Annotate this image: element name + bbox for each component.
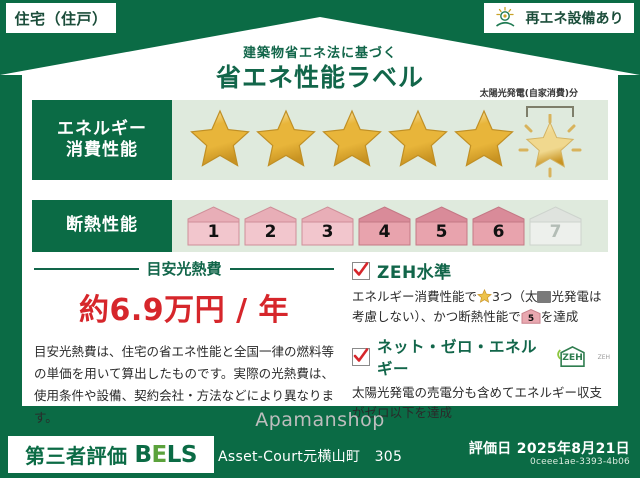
energy-label-line2: 消費性能 (57, 140, 147, 161)
redaction-mark (537, 291, 551, 303)
evaluation-date-value: 2025年8月21日 (517, 441, 630, 457)
claim-text-pre: エネルギー消費性能で (352, 289, 477, 304)
footer-bar: 第三者評価 BELS Asset-Court元横山町 305 評価日 2025年… (0, 430, 640, 478)
star-icon-filled-3 (320, 108, 384, 172)
energy-performance-row: エネルギー 消費性能 太陽光発電(自家消費)分 (32, 100, 608, 180)
bels-letter-e: E (152, 442, 167, 468)
renewable-equipment-badge: 再エネ設備あり (484, 3, 634, 33)
claim-zeh-standard: ZEH水準 エネルギー消費性能で3つ（太光発電は考慮しない）、かつ断熱性能で 5… (352, 258, 610, 327)
claim-net-zero-title: ネット・ゼロ・エネルギー (377, 335, 545, 379)
claim-zeh-standard-title: ZEH水準 (377, 258, 452, 283)
insulation-badge-number: 5 (528, 314, 534, 324)
insulation-performance-label: 断熱性能 (32, 200, 172, 252)
insulation-badge-icon: 5 (521, 309, 541, 324)
claim-zeh-standard-body: エネルギー消費性能で3つ（太光発電は考慮しない）、かつ断熱性能で 5 を達成 (352, 287, 610, 327)
star-icon (477, 289, 492, 303)
checkbox-checked-icon (352, 262, 370, 280)
zeh-logo-icon: ZEH (555, 343, 590, 371)
svg-text:ZEH: ZEH (563, 352, 584, 363)
energy-label-line1: エネルギー (57, 119, 147, 140)
insulation-level-5: 5 (414, 205, 469, 247)
watermark: Apamanshop (0, 409, 640, 431)
claim-text-end: を達成 (541, 309, 579, 324)
bels-logo-text: BELS (135, 442, 197, 468)
bels-third-party-badge: 第三者評価 BELS (8, 436, 214, 473)
energy-performance-label: エネルギー 消費性能 (32, 100, 172, 180)
evaluation-id: 0ceee1ae-3393-4b06 (530, 457, 630, 467)
insulation-level-number: 1 (186, 222, 241, 242)
dwelling-type-badge: 住宅（住戸） (6, 3, 116, 33)
star-icon-filled-5 (452, 108, 516, 172)
property-address: Asset-Court元横山町 305 (218, 446, 402, 466)
heading-rule-left (34, 268, 139, 270)
star-rating: 太陽光発電(自家消費)分 (172, 108, 582, 172)
star-icon-filled-2 (254, 108, 318, 172)
insulation-level-6: 6 (471, 205, 526, 247)
star-solar-6: 太陽光発電(自家消費)分 (518, 108, 582, 172)
insulation-level-2: 2 (243, 205, 298, 247)
insulation-level-number: 6 (471, 222, 526, 242)
zeh-claims-block: ZEH水準 エネルギー消費性能で3つ（太光発電は考慮しない）、かつ断熱性能で 5… (352, 258, 610, 431)
insulation-level-1: 1 (186, 205, 241, 247)
insulation-level-number: 2 (243, 222, 298, 242)
claim-text-mid: 3つ（太 (492, 289, 537, 304)
solar-annotation: 太陽光発電(自家消費)分 (480, 86, 578, 99)
renewable-equipment-label: 再エネ設備あり (526, 8, 624, 28)
insulation-level-number: 5 (414, 222, 469, 242)
heading-rule-right (230, 268, 335, 270)
zeh-logo-subtext: ZEH (598, 354, 610, 361)
bels-letter-ls: LS (167, 442, 197, 468)
utility-cost-heading: 目安光熱費 (34, 258, 334, 279)
utility-cost-block: 目安光熱費 約6.9万円 / 年 目安光熱費は、住宅の省エネ性能と全国一律の燃料… (34, 258, 334, 429)
insulation-level-number: 3 (300, 222, 355, 242)
insulation-level-number: 4 (357, 222, 412, 242)
insulation-level-scale: 1234567 (172, 205, 583, 247)
insulation-level-7: 7 (528, 205, 583, 247)
checkbox-checked-icon (352, 348, 370, 366)
insulation-level-number: 7 (528, 222, 583, 242)
insulation-performance-row: 断熱性能 1234567 (32, 200, 608, 252)
insulation-level-4: 4 (357, 205, 412, 247)
star-icon-outline (524, 120, 576, 172)
bels-jp-label: 第三者評価 (25, 440, 128, 469)
claim-net-zero-head: ネット・ゼロ・エネルギー ZEH ZEH (352, 335, 610, 379)
sun-icon (495, 6, 521, 30)
claim-zeh-standard-head: ZEH水準 (352, 258, 610, 283)
utility-cost-heading-text: 目安光熱費 (147, 258, 222, 279)
evaluation-date: 評価日 2025年8月21日 (469, 438, 630, 458)
dwelling-type-label: 住宅（住戸） (14, 8, 107, 29)
utility-cost-amount: 約6.9万円 / 年 (34, 285, 334, 329)
energy-stars-panel: 太陽光発電(自家消費)分 (172, 100, 608, 180)
evaluation-date-label: 評価日 (469, 441, 512, 457)
bels-letter-b: B (135, 442, 152, 468)
star-icon-filled-4 (386, 108, 450, 172)
insulation-level-3: 3 (300, 205, 355, 247)
insulation-levels-panel: 1234567 (172, 200, 608, 252)
bels-energy-label: 住宅（住戸） 再エネ設備あり 建築物省エネ法に基づく 省エネ性能ラベル エネルギ… (0, 0, 640, 478)
star-icon-filled-1 (188, 108, 252, 172)
